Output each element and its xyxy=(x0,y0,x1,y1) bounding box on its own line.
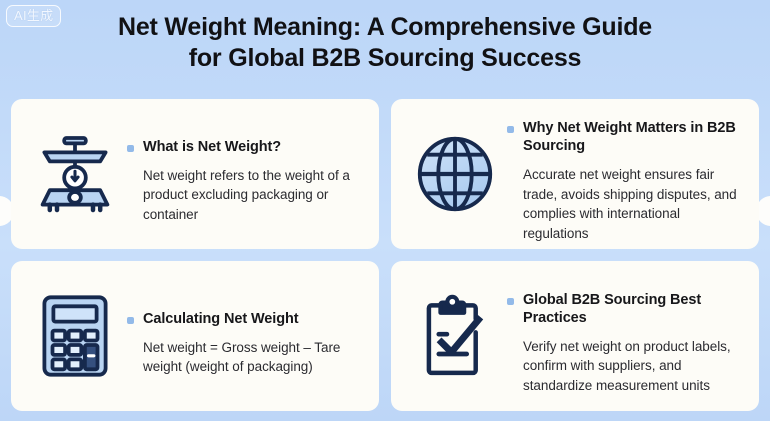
card-text-column: What is Net Weight? Net weight refers to… xyxy=(143,138,365,225)
card-calculating-net-weight[interactable]: Calculating Net Weight Net weight = Gros… xyxy=(11,261,379,411)
card-heading: Why Net Weight Matters in B2B Sourcing xyxy=(523,119,745,155)
card-text-column: Why Net Weight Matters in B2B Sourcing A… xyxy=(523,119,745,243)
card-text: Accurate net weight ensures fair trade, … xyxy=(523,165,745,243)
card-heading: Global B2B Sourcing Best Practices xyxy=(523,291,745,327)
card-text: Net weight = Gross weight – Tare weight … xyxy=(143,338,365,377)
card-global-b2b-best-practices[interactable]: Global B2B Sourcing Best Practices Verif… xyxy=(391,261,759,411)
page-title: Net Weight Meaning: A Comprehensive Guid… xyxy=(0,12,770,74)
card-text: Net weight refers to the weight of a pro… xyxy=(143,166,365,225)
page-title-line-1: Net Weight Meaning: A Comprehensive Guid… xyxy=(48,12,722,43)
card-heading: Calculating Net Weight xyxy=(143,310,365,328)
bullet-dot-icon xyxy=(507,126,514,133)
weighing-scale-icon xyxy=(23,122,127,226)
bullet-dot-icon xyxy=(127,145,134,152)
card-text-column: Global B2B Sourcing Best Practices Verif… xyxy=(523,291,745,396)
page-title-line-2: for Global B2B Sourcing Success xyxy=(48,43,722,74)
card-heading: What is Net Weight? xyxy=(143,138,365,156)
card-text-column: Calculating Net Weight Net weight = Gros… xyxy=(143,310,365,377)
globe-icon xyxy=(403,122,507,226)
bullet-dot-icon xyxy=(127,317,134,324)
card-body: Global B2B Sourcing Best Practices Verif… xyxy=(507,277,745,396)
card-why-net-weight-matters[interactable]: Why Net Weight Matters in B2B Sourcing A… xyxy=(391,99,759,249)
clipboard-check-icon xyxy=(403,284,507,388)
card-grid: What is Net Weight? Net weight refers to… xyxy=(11,99,759,411)
card-text: Verify net weight on product labels, con… xyxy=(523,337,745,396)
card-body: What is Net Weight? Net weight refers to… xyxy=(127,124,365,225)
calculator-icon xyxy=(23,284,127,388)
card-body: Why Net Weight Matters in B2B Sourcing A… xyxy=(507,105,745,243)
infographic-poster: AI生成 Net Weight Meaning: A Comprehensive… xyxy=(0,0,770,421)
card-what-is-net-weight[interactable]: What is Net Weight? Net weight refers to… xyxy=(11,99,379,249)
card-body: Calculating Net Weight Net weight = Gros… xyxy=(127,296,365,377)
bullet-dot-icon xyxy=(507,298,514,305)
